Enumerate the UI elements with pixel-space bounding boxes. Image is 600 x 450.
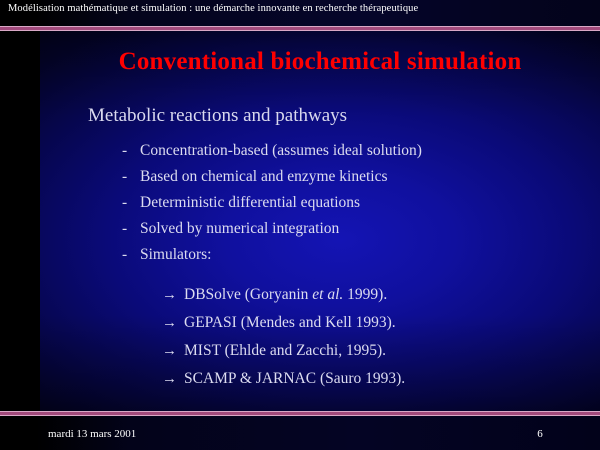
rule-highlight-bottom [0,30,600,31]
simulator-label: MIST (Ehlde and Zacchi, 1995). [184,337,386,365]
list-item: - Based on chemical and enzyme kinetics [122,164,552,190]
bullet-list: - Concentration-based (assumes ideal sol… [122,138,552,268]
dash-bullet-icon: - [122,164,140,190]
arrow-right-icon: → [162,365,184,393]
simulator-label: SCAMP & JARNAC (Sauro 1993). [184,365,405,393]
citation-et-al: et al. [312,286,343,303]
level1-heading: Metabolic reactions and pathways [88,105,347,127]
simulator-list: → DBSolve (Goryanin et al. 1999). → GEPA… [162,281,562,393]
simulator-label: GEPASI (Mendes and Kell 1993). [184,309,396,337]
list-item: - Deterministic differential equations [122,190,552,216]
presentation-slide: Modélisation mathématique et simulation … [0,0,600,450]
list-item: → SCAMP & JARNAC (Sauro 1993). [162,365,562,393]
left-black-band [0,0,40,450]
dash-bullet-icon: - [122,242,140,268]
dash-bullet-icon: - [122,138,140,164]
dash-bullet-icon: - [122,190,140,216]
list-item-label: Concentration-based (assumes ideal solut… [140,138,422,164]
list-item: - Concentration-based (assumes ideal sol… [122,138,552,164]
list-item-label: Based on chemical and enzyme kinetics [140,164,387,190]
list-item: → DBSolve (Goryanin et al. 1999). [162,281,562,309]
bottom-divider-rule [0,411,600,419]
arrow-right-icon: → [162,309,184,337]
footer-date: mardi 13 mars 2001 [48,428,136,440]
list-item: → GEPASI (Mendes and Kell 1993). [162,309,562,337]
simulator-label: DBSolve (Goryanin et al. 1999). [184,281,387,309]
slide-header-text: Modélisation mathématique et simulation … [8,3,418,14]
dash-bullet-icon: - [122,216,140,242]
list-item: → MIST (Ehlde and Zacchi, 1995). [162,337,562,365]
slide-title: Conventional biochemical simulation [40,48,600,76]
arrow-right-icon: → [162,281,184,309]
list-item: - Simulators: [122,242,552,268]
arrow-right-icon: → [162,337,184,365]
rule-highlight-bottom [0,415,600,416]
top-divider-rule [0,26,600,34]
slide-page-number: 6 [530,428,550,440]
list-item-label: Deterministic differential equations [140,190,360,216]
list-item-label: Solved by numerical integration [140,216,339,242]
list-item: - Solved by numerical integration [122,216,552,242]
list-item-label: Simulators: [140,242,211,268]
